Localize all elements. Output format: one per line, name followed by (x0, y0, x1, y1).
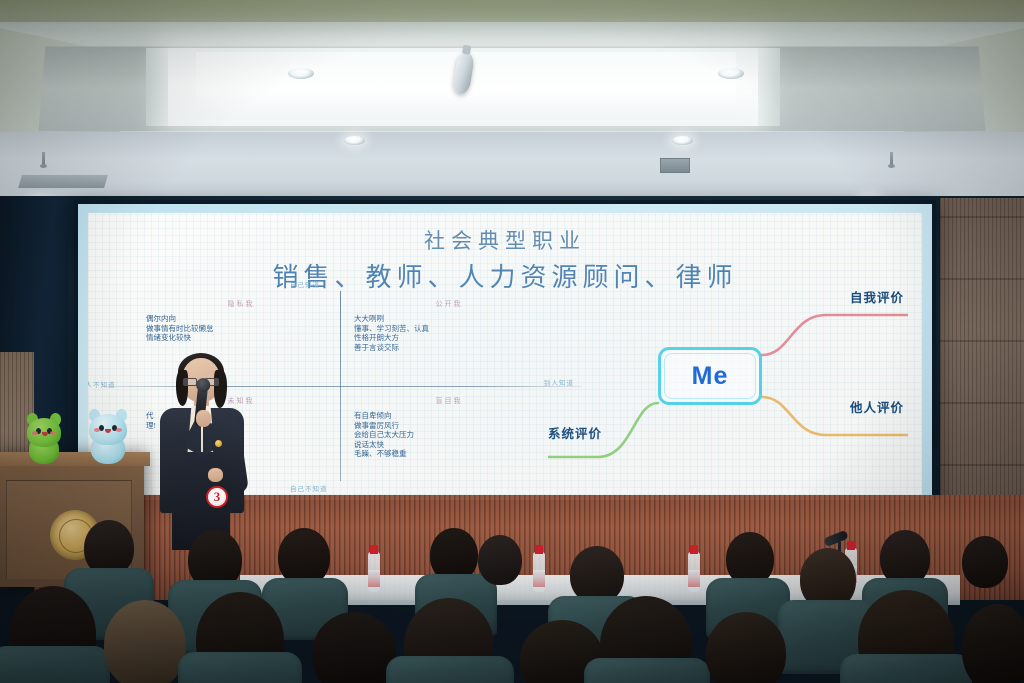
list-item: 做事雷厉风行 (354, 421, 544, 431)
sprinkler-icon (890, 152, 893, 165)
mascot-cheek (116, 428, 122, 432)
audience-head (478, 535, 522, 585)
list-item: 做事情有时比较懒怠 (146, 324, 336, 334)
auditorium-scene: 社会典型职业 销售、教师、人力资源顾问、律师 自己知道 自己不知道 别人不知道 … (0, 0, 1024, 683)
water-bottle (368, 552, 380, 592)
list-item: 情绪变化较快 (146, 333, 336, 343)
slide-title-line-1: 社会典型职业 (88, 225, 922, 255)
sprinkler-icon (42, 152, 45, 165)
mascot-cheek (32, 431, 38, 435)
presenter-hand (208, 468, 223, 482)
presenter-hair-side (214, 370, 227, 408)
list-item: 懂事、学习刻苦、认真 (354, 324, 544, 334)
list-item: 毛躁、不够稳重 (354, 449, 544, 459)
johari-quadrant-blind-self: 盲目我 有自卑倾向 做事雷厉风行 会给自己太大压力 说话太快 毛躁、不够稳重 (354, 396, 544, 459)
ceiling-top-band (0, 0, 1024, 22)
list-item: 偶尔内向 (146, 314, 336, 324)
ceiling-vent-icon (18, 175, 108, 188)
johari-axis-label-bottom: 自己不知道 (290, 483, 328, 493)
glasses-lens (183, 378, 197, 386)
list-item: 性格开朗大方 (354, 333, 544, 343)
green-mascot-plush (26, 418, 62, 464)
mindmap-diagram: Me 自我评价 他人评价 系统评价 (548, 285, 908, 480)
lapel-pin-icon (215, 440, 222, 447)
audience-head (962, 536, 1008, 588)
downlight-icon (288, 68, 314, 79)
mascot-cheek (94, 428, 100, 432)
list-item: 会给自己太大压力 (354, 430, 544, 440)
johari-quadrant-public-self: 公开我 大大咧咧 懂事、学习刻苦、认真 性格开朗大方 善于言谈交际 (354, 299, 544, 352)
quadrant-title: 隐私我 (146, 299, 336, 309)
audience-head (962, 604, 1024, 683)
list-item: 善于言谈交际 (354, 343, 544, 353)
mascot-head (89, 414, 127, 445)
ceiling-vent-icon (660, 158, 690, 173)
list-item: 有自卑倾向 (354, 411, 544, 421)
presenter: 3 (152, 358, 250, 548)
auditorium-seat (178, 652, 302, 683)
mindmap-branch-label-system-evaluation: 系统评价 (548, 423, 602, 442)
wood-panel-right (940, 198, 1024, 528)
water-bottle (533, 552, 545, 592)
mascot-head (27, 418, 61, 447)
quadrant-items: 偶尔内向 做事情有时比较懒怠 情绪变化较快 (146, 314, 336, 343)
blue-mascot-plush (88, 414, 128, 464)
mindmap-branch-label-self-evaluation: 自我评价 (850, 287, 904, 306)
audience-head (312, 612, 396, 683)
johari-axis-label-top: 自己知道 (290, 279, 320, 289)
auditorium-seat (386, 656, 514, 683)
list-item: 说话太快 (354, 440, 544, 450)
slide-title: 社会典型职业 销售、教师、人力资源顾问、律师 (88, 225, 922, 294)
badge-number: 3 (214, 489, 221, 505)
mascot-cheek (50, 431, 56, 435)
ceiling-lower-plane (0, 132, 1024, 200)
quadrant-title: 公开我 (354, 299, 544, 309)
johari-axis-label-left: 别人不知道 (88, 379, 116, 389)
auditorium-seat (584, 658, 710, 683)
mindmap-center-label: Me (692, 362, 729, 391)
contestant-number-badge: 3 (206, 486, 228, 508)
ceiling (0, 0, 1024, 200)
mindmap-branch-label-other-evaluation: 他人评价 (850, 397, 904, 416)
mascot-mouth (42, 432, 48, 436)
presenter-arm (160, 422, 186, 508)
audience-head (104, 600, 186, 683)
johari-quadrant-private-self: 隐私我 偶尔内向 做事情有时比较懒怠 情绪变化较快 (146, 299, 336, 343)
list-item: 大大咧咧 (354, 314, 544, 324)
downlight-icon (718, 68, 744, 79)
quadrant-title: 盲目我 (354, 396, 544, 406)
downlight-icon (344, 136, 365, 145)
mascot-mouth (105, 429, 111, 433)
presenter-hair-side (176, 370, 188, 406)
mindmap-center-node: Me (658, 347, 762, 405)
quadrant-items: 大大咧咧 懂事、学习刻苦、认真 性格开朗大方 善于言谈交际 (354, 314, 544, 352)
water-bottle (688, 552, 700, 592)
auditorium-seat (840, 654, 972, 683)
quadrant-items: 有自卑倾向 做事雷厉风行 会给自己太大压力 说话太快 毛躁、不够稳重 (354, 411, 544, 459)
auditorium-seat (0, 646, 110, 683)
downlight-icon (672, 136, 693, 145)
presenter-hand (196, 410, 211, 427)
